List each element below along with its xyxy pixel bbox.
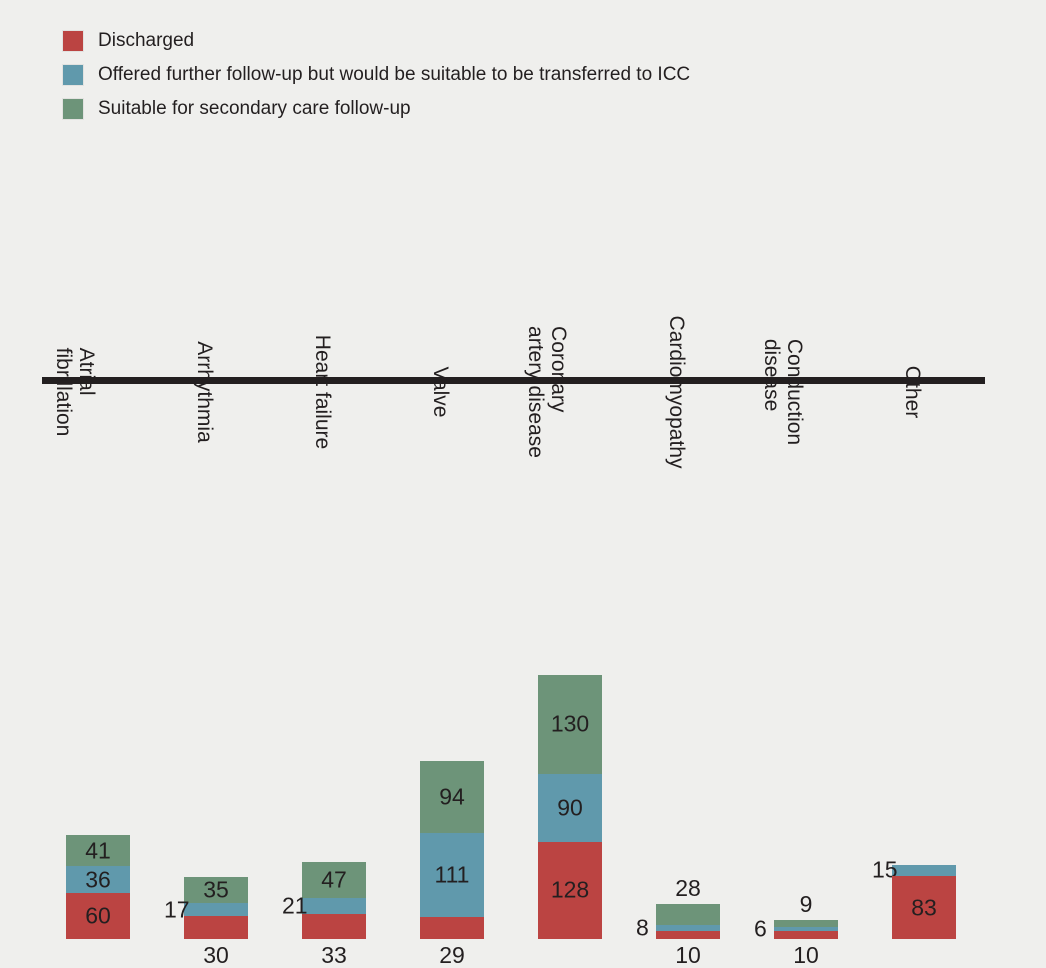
category-label-text: Valve [429, 367, 452, 418]
category-label-arrhythmia: Arrhythmia [184, 392, 248, 552]
bar-value-label: 28 [656, 877, 720, 900]
bar-value-label: 60 [66, 905, 130, 928]
plot-area: 4136603517304721339411129130901282881096… [0, 0, 1046, 562]
bar-segment-secondary[interactable]: 9 [774, 920, 838, 927]
bar-segment-offered[interactable]: 36 [66, 866, 130, 893]
bar-segment-secondary[interactable]: 130 [538, 675, 602, 774]
bar-segment-secondary[interactable]: 94 [420, 761, 484, 832]
category-label-atrial-fibrillation: Atrialfibrillation [66, 392, 130, 552]
bar-segment-offered[interactable]: 111 [420, 833, 484, 917]
bar-value-label: 90 [538, 796, 602, 819]
bar-value-label: 128 [538, 879, 602, 902]
category-label-other: Other [892, 392, 956, 552]
category-label-text: Conductiondisease [760, 339, 806, 445]
bar-value-label: 10 [656, 944, 720, 967]
bar-value-label: 130 [538, 713, 602, 736]
bar-segment-discharged[interactable]: 83 [892, 876, 956, 939]
bar-segment-offered[interactable]: 15 [892, 865, 956, 876]
bar-value-label: 6 [754, 918, 767, 941]
bar-segment-discharged[interactable]: 30 [184, 916, 248, 939]
bar-segment-secondary[interactable]: 47 [302, 862, 366, 898]
x-axis-line [42, 377, 985, 384]
bar-value-label: 83 [892, 896, 956, 919]
category-label-text: Atrialfibrillation [52, 348, 98, 437]
bar-stack: 9610 [774, 920, 838, 939]
bar-segment-discharged[interactable]: 10 [656, 931, 720, 939]
bar-segment-offered[interactable]: 17 [184, 903, 248, 916]
category-label-text: Coronaryartery disease [524, 326, 570, 458]
bar-segment-secondary[interactable]: 35 [184, 877, 248, 904]
bar-value-label: 9 [774, 893, 838, 916]
chart-root: Discharged Offered further follow-up but… [0, 0, 1046, 562]
category-label-text: Heart failure [311, 335, 334, 449]
bar-stack: 472133 [302, 862, 366, 939]
bar-value-label: 29 [420, 944, 484, 967]
bar-stack: 351730 [184, 877, 248, 939]
category-label-valve: Valve [420, 392, 484, 552]
category-label-text: Arrhythmia [193, 341, 216, 443]
bar-value-label: 8 [636, 917, 649, 940]
bar-value-label: 36 [66, 868, 130, 891]
category-label-heart-failure: Heart failure [302, 392, 366, 552]
bar-segment-offered[interactable]: 21 [302, 898, 366, 914]
bar-value-label: 35 [184, 879, 248, 902]
bar-segment-offered[interactable]: 90 [538, 774, 602, 842]
bar-value-label: 33 [302, 944, 366, 967]
category-label-cardiomyopathy: Cardiomyopathy [656, 392, 720, 552]
category-label-conduction-disease: Conductiondisease [774, 392, 838, 552]
bar-segment-secondary[interactable]: 41 [66, 835, 130, 866]
bar-value-label: 47 [302, 869, 366, 892]
bar-segment-secondary[interactable]: 28 [656, 904, 720, 925]
bar-segment-discharged[interactable]: 128 [538, 842, 602, 939]
bar-segment-discharged[interactable]: 29 [420, 917, 484, 939]
bar-stack: 1583 [892, 865, 956, 939]
bar-value-label: 30 [184, 944, 248, 967]
bar-stack: 413660 [66, 835, 130, 939]
bar-value-label: 111 [420, 863, 484, 886]
bar-stack: 9411129 [420, 761, 484, 939]
bar-segment-discharged[interactable]: 60 [66, 893, 130, 939]
bar-value-label: 10 [774, 944, 838, 967]
bar-value-label: 94 [420, 786, 484, 809]
bar-stack: 13090128 [538, 675, 602, 939]
category-label-coronary-artery-disease: Coronaryartery disease [538, 392, 602, 552]
category-label-text: Other [901, 366, 924, 419]
bar-segment-discharged[interactable]: 33 [302, 914, 366, 939]
category-label-text: Cardiomyopathy [665, 316, 688, 469]
bar-segment-discharged[interactable]: 10 [774, 931, 838, 939]
bar-value-label: 41 [66, 839, 130, 862]
bar-stack: 28810 [656, 904, 720, 939]
